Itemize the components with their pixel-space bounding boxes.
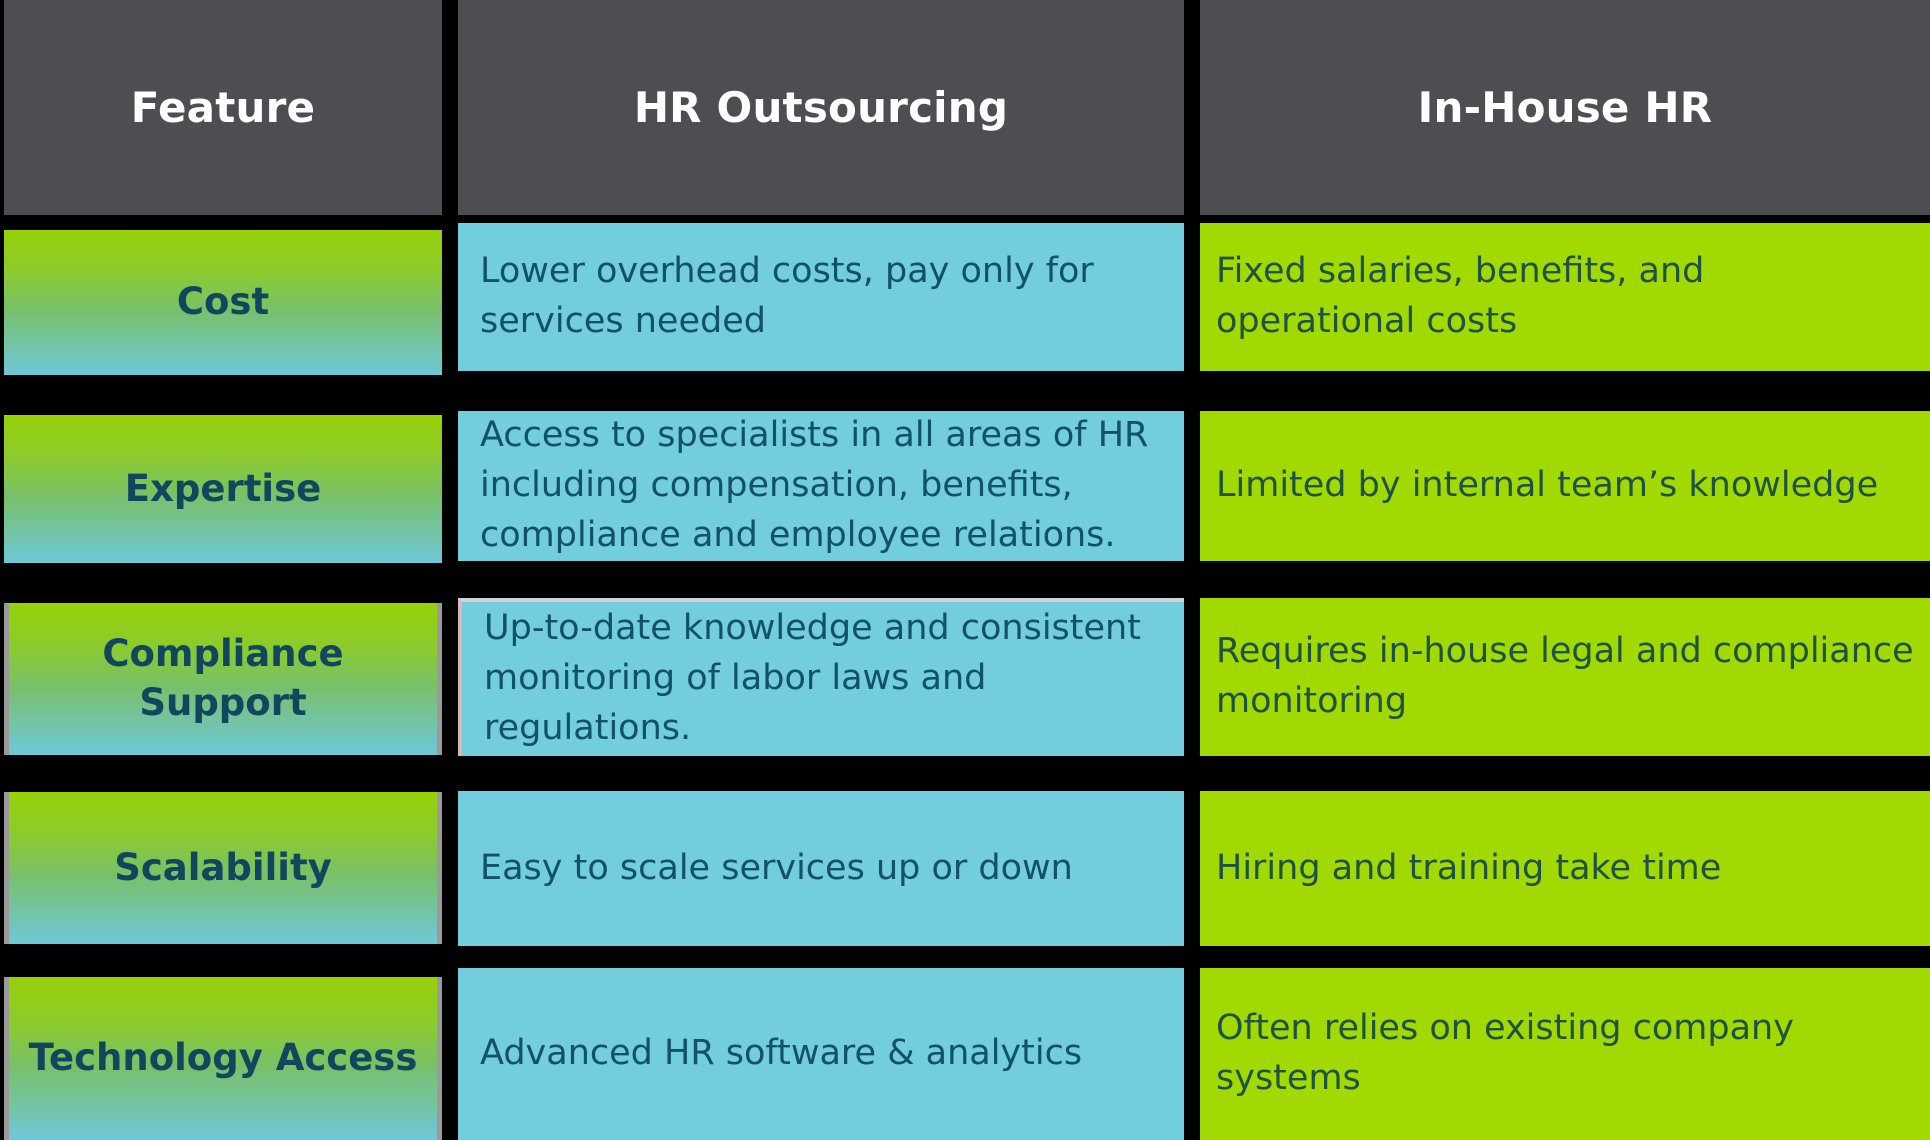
feature-label: Compliance Support <box>19 630 427 728</box>
header-label: In-House HR <box>1418 83 1713 132</box>
feature-label: Technology Access <box>29 1034 418 1083</box>
table-row: Compliance Support <box>4 603 442 755</box>
table-row: Advanced HR software & analytics <box>458 968 1184 1140</box>
comparison-table: Feature HR Outsourcing In-House HR Cost … <box>0 0 1930 1140</box>
table-row: Access to specialists in all areas of HR… <box>458 411 1184 561</box>
header-label: Feature <box>131 83 315 132</box>
table-row: Easy to scale services up or down <box>458 791 1184 946</box>
table-row: Limited by internal team’s knowledge <box>1200 411 1930 561</box>
table-row: Fixed salaries, benefits, and operationa… <box>1200 223 1930 371</box>
inhouse-value: Requires in-house legal and compliance m… <box>1216 627 1914 726</box>
inhouse-value: Often relies on existing company systems <box>1216 1004 1914 1103</box>
outsourcing-value: Access to specialists in all areas of HR… <box>480 411 1162 560</box>
feature-label: Cost <box>177 278 269 327</box>
table-row: Often relies on existing company systems <box>1200 968 1930 1140</box>
outsourcing-value: Easy to scale services up or down <box>480 844 1073 894</box>
table-row: Cost <box>4 230 442 375</box>
table-row: Requires in-house legal and compliance m… <box>1200 598 1930 756</box>
table-row: Scalability <box>4 792 442 944</box>
table-row: Up-to-date knowledge and consistent moni… <box>458 598 1184 756</box>
header-label: HR Outsourcing <box>634 83 1008 132</box>
outsourcing-value: Up-to-date knowledge and consistent moni… <box>484 604 1162 753</box>
table-header-in-house-hr: In-House HR <box>1200 0 1930 215</box>
table-row: Hiring and training take time <box>1200 791 1930 946</box>
inhouse-value: Hiring and training take time <box>1216 844 1721 894</box>
table-row: Technology Access <box>4 977 442 1140</box>
table-header-feature: Feature <box>4 0 442 215</box>
inhouse-value: Fixed salaries, benefits, and operationa… <box>1216 247 1914 346</box>
table-header-hr-outsourcing: HR Outsourcing <box>458 0 1184 215</box>
feature-label: Scalability <box>114 844 332 893</box>
outsourcing-value: Lower overhead costs, pay only for servi… <box>480 247 1162 346</box>
table-row: Lower overhead costs, pay only for servi… <box>458 223 1184 371</box>
table-row: Expertise <box>4 415 442 563</box>
feature-label: Expertise <box>125 465 321 514</box>
inhouse-value: Limited by internal team’s knowledge <box>1216 461 1878 511</box>
outsourcing-value: Advanced HR software & analytics <box>480 1029 1082 1079</box>
